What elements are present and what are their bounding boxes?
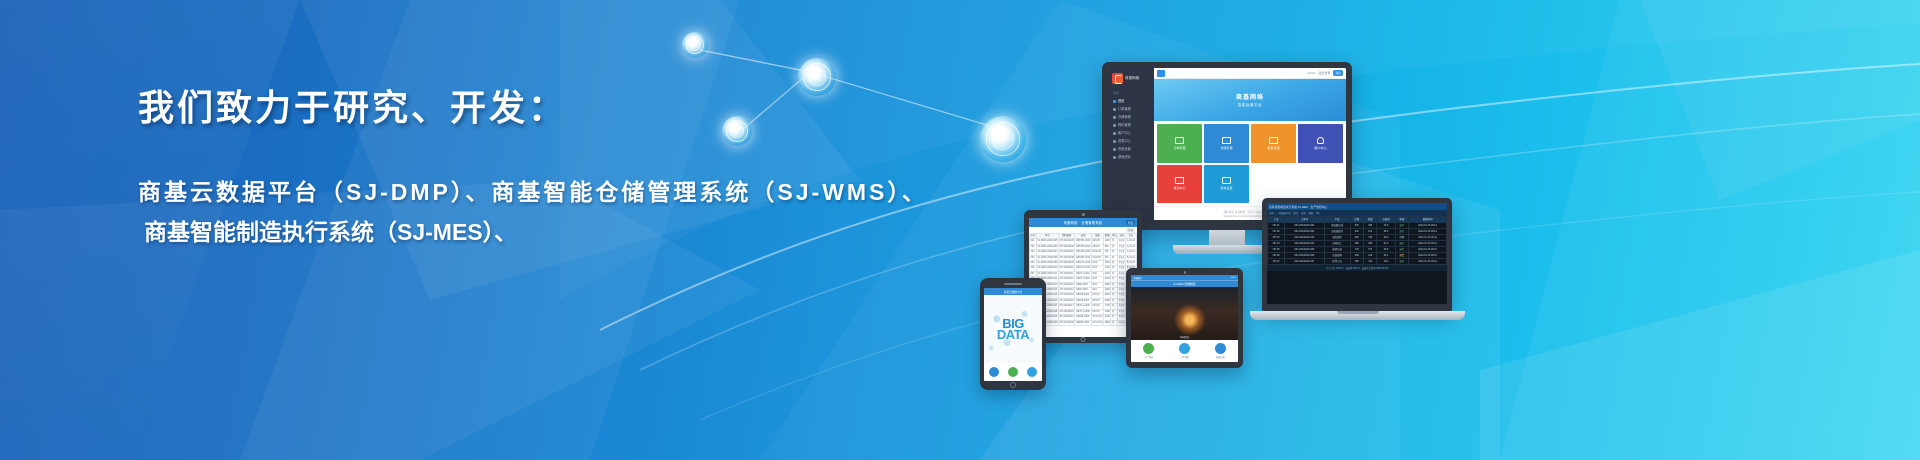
home-button-icon[interactable] [1010, 382, 1016, 388]
table-cell: 2号库 [1118, 255, 1126, 260]
tablet2-mockup: 中国移动 100% SJ-MES 智能制造 车间实况 生产看板 工单管理 [1126, 268, 1243, 368]
sidebar-item-4[interactable]: 客户中心 [1112, 129, 1150, 137]
banner-subcopy-line-1: 商基云数据平台（SJ-DMP）、商基智能仓储管理系统（SJ-WMS）、 [138, 172, 958, 212]
tablet2-icon-0[interactable]: 生产看板 [1143, 343, 1154, 360]
tile-label: 订单管理 [1173, 146, 1185, 150]
table-cell: MT-20240113 [1059, 282, 1075, 287]
app-hero-subtitle: 智能运营平台 [1238, 103, 1263, 108]
table-cell: GB70.1-2008 [1075, 304, 1092, 309]
bg-facet-7 [1500, 0, 1920, 460]
imac-stand-neck [1209, 230, 1245, 246]
document-icon [1269, 137, 1278, 144]
table-cell: GB70.1-2008 [1075, 309, 1092, 314]
workorder-icon [1179, 343, 1190, 354]
sidebar-item-1[interactable]: 订单管理 [1112, 105, 1150, 113]
bg-facet-8 [1480, 250, 1920, 460]
dot-cloud-icon [984, 295, 1042, 363]
table-row[interactable]: OP-06MO-20240115-006总装线体45041863.1报警2024… [1268, 253, 1447, 259]
table-cell: GB5780-2016 [1075, 255, 1092, 260]
table-row[interactable]: 008SJ-WMS-20240112MT-20240112GB97.1-2002… [1030, 277, 1138, 282]
table-cell: 检测工位 [1324, 259, 1350, 265]
table-cell: 件 [1111, 320, 1118, 325]
topbar-user[interactable]: admin · 退出登录 [1308, 71, 1331, 75]
camera-icon [1082, 213, 1085, 216]
bullet-icon [1113, 124, 1116, 127]
table-cell: MT-20240105 [1059, 239, 1075, 244]
banner-copy: 我们致力于研究、开发： 商基云数据平台（SJ-DMP）、商基智能仓储管理系统（S… [138, 84, 958, 252]
table-cell: 3号库 [1118, 282, 1126, 287]
table-cell: SJ-WMS-20240106 [1036, 244, 1058, 249]
table-cell: MT-20240108 [1059, 255, 1075, 260]
app-brand: 商基网络 [1112, 73, 1150, 84]
table-cell: 450 [1350, 259, 1363, 265]
table-cell: 3号库 [1118, 277, 1126, 282]
table-cell: MT-20240112 [1059, 277, 1075, 282]
table-cell: B-01-04 [1126, 261, 1137, 266]
tile-3[interactable]: 用户中心 [1298, 124, 1343, 163]
phone-icon-1[interactable] [1008, 367, 1018, 377]
battery-label: 100% [1230, 277, 1236, 279]
tablet-title: 商基网络 · 仓储管理系统 [1064, 220, 1103, 225]
mail-icon [1175, 177, 1184, 184]
table-cell: 18.4 [1377, 259, 1395, 265]
menu-toggle-icon[interactable] [1157, 70, 1165, 77]
quality-icon [1215, 343, 1226, 354]
table-cell: 3号库 [1118, 271, 1126, 276]
phone-icon-2[interactable] [1027, 367, 1037, 377]
app-hero-title: 商基网络 [1236, 92, 1264, 101]
table-cell: 2号库 [1118, 266, 1126, 271]
table-cell: MO-20240115-007 [1285, 259, 1325, 265]
device-mockup-cluster: 商基网络 导航 首页 订单管理 仓储管理 物料管理 客户中心 报表中心 系统设置… [1010, 46, 1510, 356]
table-cell: 2400 [1104, 271, 1111, 276]
bullet-icon [1113, 108, 1116, 111]
table-cell: 1320 [1104, 266, 1111, 271]
tablet2-screen: 中国移动 100% SJ-MES 智能制造 车间实况 生产看板 工单管理 [1131, 275, 1238, 362]
table-cell: 1号库 [1118, 320, 1126, 325]
table-cell: MT-20240119 [1059, 315, 1075, 320]
laptop-lid: 商基智能制造执行系统 SJ-MES · 生产监控中心 车间：一号装配车间 班次：… [1262, 198, 1452, 311]
table-cell: MT-20240106 [1059, 244, 1075, 249]
table-row[interactable]: OP-03MO-20240115-003端盖部件82079529.6待料2024… [1268, 235, 1447, 241]
tablet-titlebar: 商基网络 · 仓储管理系统 导出 [1029, 218, 1137, 227]
icon-label: 生产看板 [1144, 355, 1153, 359]
table-cell: GB5780-2016 [1075, 250, 1092, 255]
subbar-item-2: 刷新：10s [1308, 211, 1319, 215]
table-cell: MT-20240120 [1059, 320, 1075, 325]
gear-icon [1222, 177, 1231, 184]
sidebar-item-0[interactable]: 首页 [1112, 97, 1150, 105]
table-row[interactable]: 005SJ-WMS-20240109MT-20240109GB6170-2015… [1030, 261, 1138, 266]
laptop-screen: 商基智能制造执行系统 SJ-MES · 生产监控中心 车间：一号装配车间 班次：… [1267, 203, 1447, 304]
table-row[interactable]: OP-07MO-20240115-007检测工位45041218.4运行2024… [1268, 259, 1447, 265]
tile-label: 消息中心 [1173, 186, 1185, 190]
phone-hero: BIG DATA [984, 295, 1042, 363]
tile-1[interactable]: 仓储管理 [1204, 124, 1249, 163]
app-topbar: admin · 退出登录 消息 [1154, 68, 1346, 79]
sidebar-item-6[interactable]: 系统设置 [1112, 145, 1150, 153]
topbar-badge[interactable]: 消息 [1333, 70, 1343, 76]
table-cell: 3850 [1104, 320, 1111, 325]
table-cell: MT-20240107 [1059, 250, 1075, 255]
tile-label: 报表管理 [1267, 146, 1279, 150]
table-row[interactable]: 007SJ-WMS-20240111MT-20240111GB97.1-2002… [1030, 271, 1138, 276]
speaker-icon [1004, 283, 1022, 285]
sidebar-item-5[interactable]: 报表中心 [1112, 137, 1150, 145]
table-cell: GB6170-2015 [1075, 261, 1092, 266]
bg-facet-9 [1640, 0, 1920, 200]
table-cell: 2900 [1104, 298, 1111, 303]
sidebar-item-label: 报表中心 [1118, 137, 1131, 145]
table-cell: MT-20240109 [1059, 261, 1075, 266]
table-cell: SJ-WMS-20240108 [1036, 255, 1058, 260]
table-cell: 2号库 [1118, 304, 1126, 309]
table-row[interactable]: 003SJ-WMS-20240107MT-20240107GB5780-2016… [1030, 250, 1138, 255]
table-header-row: 序号单号物料编码名称规格数量单位仓库库位入库时间操作员状态 [1030, 234, 1138, 239]
bullet-icon [1113, 148, 1116, 151]
table-cell: 3号库 [1118, 309, 1126, 314]
table-cell: SJ-WMS-20240110 [1036, 266, 1058, 271]
table-row[interactable]: OP-02MO-20240115-002齿轮轴组件64061238.2运行202… [1268, 229, 1447, 235]
carrier-label: 中国移动 [1133, 276, 1142, 280]
banner-headline: 我们致力于研究、开发： [138, 84, 958, 132]
search-button[interactable]: 查询 [1126, 228, 1135, 233]
app-hero: 商基网络 智能运营平台 [1154, 79, 1346, 121]
tablet2-icon-1[interactable]: 工单管理 [1179, 343, 1190, 360]
table-cell: SJ-WMS-20240105 [1036, 239, 1058, 244]
table-cell: GB97.1-2002 [1075, 271, 1092, 276]
table-cell: 1号库 [1118, 288, 1126, 293]
laptop-footer: 合计产出 3780 件 · 达成率 95.2% · 设备综合效率 OEE 88.… [1267, 265, 1447, 271]
laptop-titlebar: 商基智能制造执行系统 SJ-MES · 生产监控中心 [1267, 203, 1447, 210]
table-cell: 1750 [1104, 304, 1111, 309]
table-cell: ST4.2×19 [1091, 320, 1103, 325]
home-button-icon[interactable] [1081, 337, 1086, 342]
table-cell: SJ-WMS-20240111 [1036, 271, 1058, 276]
table-cell: MT-20240111 [1059, 271, 1075, 276]
banner-subcopy-line-2: 商基智能制造执行系统（SJ-MES）、 [138, 212, 958, 252]
user-icon [1317, 137, 1324, 144]
table-cell: 2号库 [1118, 298, 1126, 303]
tile-label: 用户中心 [1314, 146, 1326, 150]
table-cell: GB5783-2016 [1075, 244, 1092, 249]
table-cell: GB5783-2016 [1075, 239, 1092, 244]
sidebar-item-label: 基础资料 [1118, 153, 1131, 161]
table-row[interactable]: 002SJ-WMS-20240106MT-20240106GB5783-2016… [1030, 244, 1138, 249]
phone-statusbar: 商基云数据平台 [984, 288, 1042, 295]
table-cell: 3号库 [1118, 315, 1126, 320]
table-cell: A-02-01 [1126, 250, 1137, 255]
bullet-icon [1113, 140, 1116, 143]
table-cell: 1500 [1104, 261, 1111, 266]
table-cell: 2号库 [1118, 261, 1126, 266]
table-cell: GB97.1-2002 [1075, 277, 1092, 282]
monitor-icon [1175, 137, 1184, 144]
sidebar-item-label: 仓储管理 [1118, 113, 1131, 121]
app-sidebar: 商基网络 导航 首页 订单管理 仓储管理 物料管理 客户中心 报表中心 系统设置… [1108, 68, 1154, 220]
table-row[interactable]: OP-05MO-20240115-005轴承压装72070126.8运行2024… [1268, 247, 1447, 253]
phone-mockup: 商基云数据平台 BIG DATA [980, 278, 1046, 390]
table-body: OP-01MO-20240115-001减速箱总成50048642.5运行202… [1268, 223, 1447, 265]
table-cell: 2024-01-15 09:12 [1409, 259, 1447, 265]
table-cell: 3200 [1104, 293, 1111, 298]
table-row[interactable]: OP-04MO-20240115-004壳体加工38035651.4运行2024… [1268, 241, 1447, 247]
table-cell: A-01-03 [1126, 244, 1137, 249]
table-cell: ST3.5×16 [1091, 315, 1103, 320]
table-row[interactable]: OP-01MO-20240115-001减速箱总成50048642.5运行202… [1268, 223, 1447, 229]
network-node-icon [682, 32, 708, 58]
tile-label: 仓储管理 [1220, 146, 1232, 150]
export-button[interactable]: 导出 [1126, 220, 1135, 225]
chart-icon [1222, 137, 1231, 144]
table-cell: MT-20240114 [1059, 288, 1075, 293]
table-cell: B-01-01 [1126, 255, 1137, 260]
table-cell: 1600 [1104, 288, 1111, 293]
hero-banner: 我们致力于研究、开发： 商基云数据平台（SJ-DMP）、商基智能仓储管理系统（S… [0, 0, 1920, 460]
table-cell: MT-20240116 [1059, 298, 1075, 303]
table-cell: SJ-WMS-20240109 [1036, 261, 1058, 266]
table-cell: GB845-1985 [1075, 315, 1092, 320]
sidebar-item-3[interactable]: 物料管理 [1112, 121, 1150, 129]
table-cell: GB845-1985 [1075, 320, 1092, 325]
table-row[interactable]: 006SJ-WMS-20240110MT-20240110GB6170-2015… [1030, 266, 1138, 271]
sidebar-item-label: 首页 [1118, 97, 1124, 105]
table-cell: 4100 [1104, 315, 1111, 320]
camera-icon [1183, 271, 1186, 274]
table-cell: 1850 [1104, 282, 1111, 287]
photo-caption: 车间实况 [1131, 335, 1238, 339]
sidebar-item-label: 订单管理 [1118, 105, 1131, 113]
table-cell: 412 [1363, 259, 1376, 265]
mes-table: 工位工单号产品计划完成节拍(s)状态更新时间 OP-01MO-20240115-… [1267, 216, 1447, 265]
subbar-item-1: 班次：白班 [1294, 211, 1306, 215]
laptop-base [1250, 311, 1465, 320]
sidebar-item-label: 系统设置 [1118, 145, 1131, 153]
phone-screen: 商基云数据平台 BIG DATA [984, 288, 1042, 381]
brand-name: 商基网络 [1125, 76, 1139, 81]
workshop-photo: 车间实况 [1131, 287, 1238, 340]
tile-2[interactable]: 报表管理 [1251, 124, 1296, 163]
phone-icon-0[interactable] [989, 367, 999, 377]
table-cell: MT-20240110 [1059, 266, 1075, 271]
table-cell: MT-20240118 [1059, 309, 1075, 314]
table-cell: 运行 [1395, 259, 1408, 265]
table-cell: 1200 [1104, 239, 1111, 244]
sidebar-heading: 导航 [1113, 91, 1150, 95]
table-cell: 1号库 [1118, 244, 1126, 249]
bullet-icon [1113, 116, 1116, 119]
app-tile-grid: 订单管理 仓储管理 报表管理 [1154, 121, 1346, 206]
tile-4[interactable]: 消息中心 [1157, 165, 1202, 204]
tablet2-icon-row: 生产看板 工单管理 质量追溯 [1131, 340, 1238, 362]
sidebar-item-2[interactable]: 仓储管理 [1112, 113, 1150, 121]
tablet2-icon-2[interactable]: 质量追溯 [1215, 343, 1226, 360]
laptop-title: 商基智能制造执行系统 SJ-MES · 生产监控中心 [1269, 205, 1327, 209]
table-cell: SJ-WMS-20240107 [1036, 250, 1058, 255]
phone-icon-row [984, 363, 1042, 381]
banner-subcopy: 商基云数据平台（SJ-DMP）、商基智能仓储管理系统（SJ-WMS）、 商基智能… [138, 172, 958, 252]
table-cell: 1680 [1104, 309, 1111, 314]
table-cell: MT-20240117 [1059, 304, 1075, 309]
table-cell: GB818-2000 [1075, 298, 1092, 303]
topbar-right: admin · 退出登录 消息 [1308, 70, 1343, 76]
table-row[interactable]: 004SJ-WMS-20240108MT-20240108GB5780-2016… [1030, 255, 1138, 260]
board-icon [1143, 343, 1154, 354]
logo-icon [1112, 73, 1123, 84]
table-cell: OP-07 [1268, 259, 1285, 265]
tile-0[interactable]: 订单管理 [1157, 124, 1202, 163]
subbar-item-0: 车间：一号装配车间 [1269, 211, 1291, 215]
laptop-mockup: 商基智能制造执行系统 SJ-MES · 生产监控中心 车间：一号装配车间 班次：… [1250, 198, 1465, 338]
table-cell: A-01-02 [1126, 239, 1137, 244]
bullet-icon [1113, 156, 1116, 159]
tile-label: 系统设置 [1220, 186, 1232, 190]
table-cell: 1号库 [1118, 239, 1126, 244]
table-cell: 1号库 [1118, 250, 1126, 255]
table-cell: MT-20240115 [1059, 293, 1075, 298]
tile-5[interactable]: 系统设置 [1204, 165, 1249, 204]
icon-label: 工单管理 [1180, 355, 1189, 359]
table-row[interactable]: 001SJ-WMS-20240105MT-20240105GB5783-2016… [1030, 239, 1138, 244]
sidebar-item-7[interactable]: 基础资料 [1112, 153, 1150, 161]
bullet-icon [1113, 132, 1116, 135]
table-cell: 2100 [1104, 277, 1111, 282]
icon-label: 质量追溯 [1216, 355, 1225, 359]
table-cell: 1号库 [1118, 293, 1126, 298]
sidebar-item-label: 物料管理 [1118, 121, 1131, 129]
sidebar-item-label: 客户中心 [1118, 129, 1131, 137]
bullet-icon [1113, 100, 1116, 103]
table-cell: GB6170-2015 [1075, 266, 1092, 271]
tablet2-titlebar: SJ-MES 智能制造 [1131, 280, 1238, 287]
table-cell: GB818-2000 [1075, 293, 1092, 298]
